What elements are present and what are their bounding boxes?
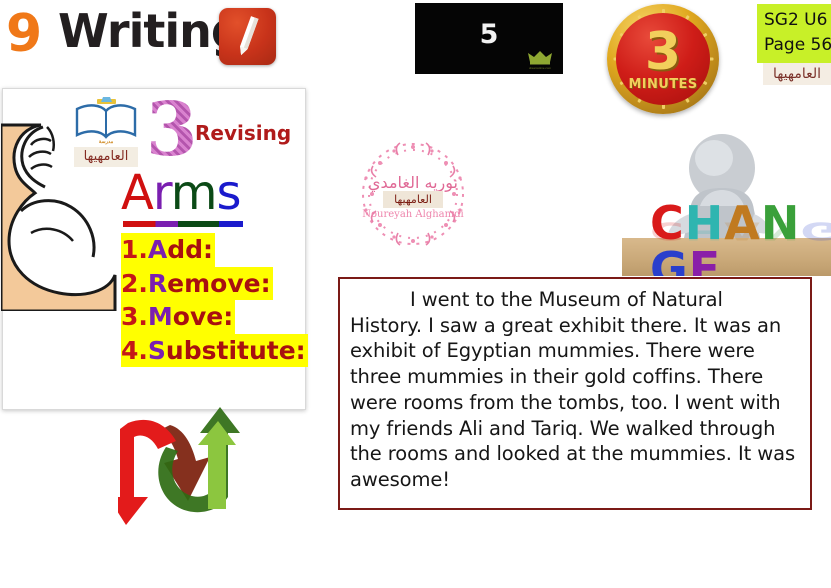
dreamstime-logo: dreamstime.com bbox=[525, 49, 555, 71]
school-book-logo: مدرسة العامهيها bbox=[67, 95, 145, 169]
step-rest: dd: bbox=[167, 235, 213, 264]
step-number: 3. bbox=[121, 302, 148, 331]
timer-face: 3 MINUTES bbox=[616, 13, 710, 105]
change-word-reflection: CHANGE bbox=[650, 219, 831, 244]
arms-revising-card: مدرسة العامهيها 3 Revising Arms 1.Add: 2… bbox=[2, 88, 306, 410]
sample-paragraph-box: I went to the Museum of Natural History.… bbox=[338, 277, 812, 510]
stage-label: Revising bbox=[195, 121, 291, 145]
page-title: Writing bbox=[58, 6, 243, 57]
change-letter-g: G bbox=[650, 246, 689, 276]
arrow-shadow-green bbox=[158, 407, 240, 512]
acronym-letter-s: s bbox=[217, 165, 241, 221]
list-item: 3.Move: bbox=[121, 300, 235, 334]
reflect-c: C bbox=[650, 217, 685, 247]
acronym-letter-r: r bbox=[153, 165, 171, 221]
list-item: 2.Remove: bbox=[121, 267, 273, 301]
paragraph-text: I went to the Museum of Natural History.… bbox=[350, 287, 800, 493]
countdown-number: 5 bbox=[415, 19, 563, 50]
reflect-g: G bbox=[800, 217, 831, 247]
acronym-letter-m: m bbox=[171, 165, 217, 221]
slide-header: 9 Writing bbox=[0, 0, 300, 78]
arms-steps-list: 1.Add: 2.Remove: 3.Move: 4.Substitute: bbox=[121, 233, 301, 367]
list-item: 1.Add: bbox=[121, 233, 215, 267]
pencil-glyph bbox=[219, 8, 276, 65]
change-illustration: CHANGE CHANGE bbox=[622, 126, 831, 276]
stamp-arabic-name: نوريه الغامدي bbox=[352, 173, 474, 192]
stamp-watermark: العامهيها bbox=[383, 191, 443, 208]
pencil-icon bbox=[219, 8, 276, 65]
step-rest: ubstitute: bbox=[166, 336, 306, 365]
page-label-watermark: العامهيها bbox=[763, 63, 831, 85]
video-timer-panel[interactable]: 5 dreamstime.com bbox=[415, 3, 563, 74]
step-initial: R bbox=[148, 269, 167, 298]
slide-number: 9 bbox=[6, 8, 42, 60]
teacher-signature-stamp: نوريه الغامدي العامهيها Noureyah Alghamd… bbox=[352, 131, 474, 257]
acronym-letter-a: A bbox=[121, 165, 153, 221]
open-book-icon bbox=[73, 95, 139, 143]
timer-unit-label: MINUTES bbox=[616, 77, 710, 92]
change-letter-e: E bbox=[689, 246, 721, 276]
arms-acronym: Arms bbox=[121, 169, 241, 217]
crown-icon bbox=[525, 49, 555, 66]
reflect-a: A bbox=[724, 217, 761, 247]
revision-cycle-arrows bbox=[118, 405, 263, 527]
stamp-english-name: Noureyah Alghamdi bbox=[352, 209, 474, 220]
list-item: 4.Substitute: bbox=[121, 334, 308, 368]
step-initial: S bbox=[148, 336, 166, 365]
step-rest: emove: bbox=[167, 269, 270, 298]
page-reference-label: SG2 U6 Page 56 bbox=[757, 4, 831, 63]
acronym-underline bbox=[123, 221, 243, 227]
video-watermark: dreamstime.com bbox=[525, 66, 555, 71]
page-label-line1: SG2 U6 bbox=[764, 8, 831, 33]
page-label-line2: Page 56 bbox=[764, 33, 831, 58]
step-number: 2. bbox=[121, 269, 148, 298]
step-rest: ove: bbox=[173, 302, 233, 331]
reflect-h: H bbox=[685, 217, 725, 247]
step-number: 4. bbox=[121, 336, 148, 365]
step-initial: A bbox=[148, 235, 167, 264]
book-logo-watermark: العامهيها bbox=[74, 147, 138, 167]
three-minutes-timer-badge: 3 MINUTES bbox=[607, 4, 719, 114]
reflect-n: N bbox=[761, 217, 801, 247]
step-initial: M bbox=[148, 302, 173, 331]
step-number: 1. bbox=[121, 235, 148, 264]
timer-number: 3 bbox=[616, 26, 710, 78]
